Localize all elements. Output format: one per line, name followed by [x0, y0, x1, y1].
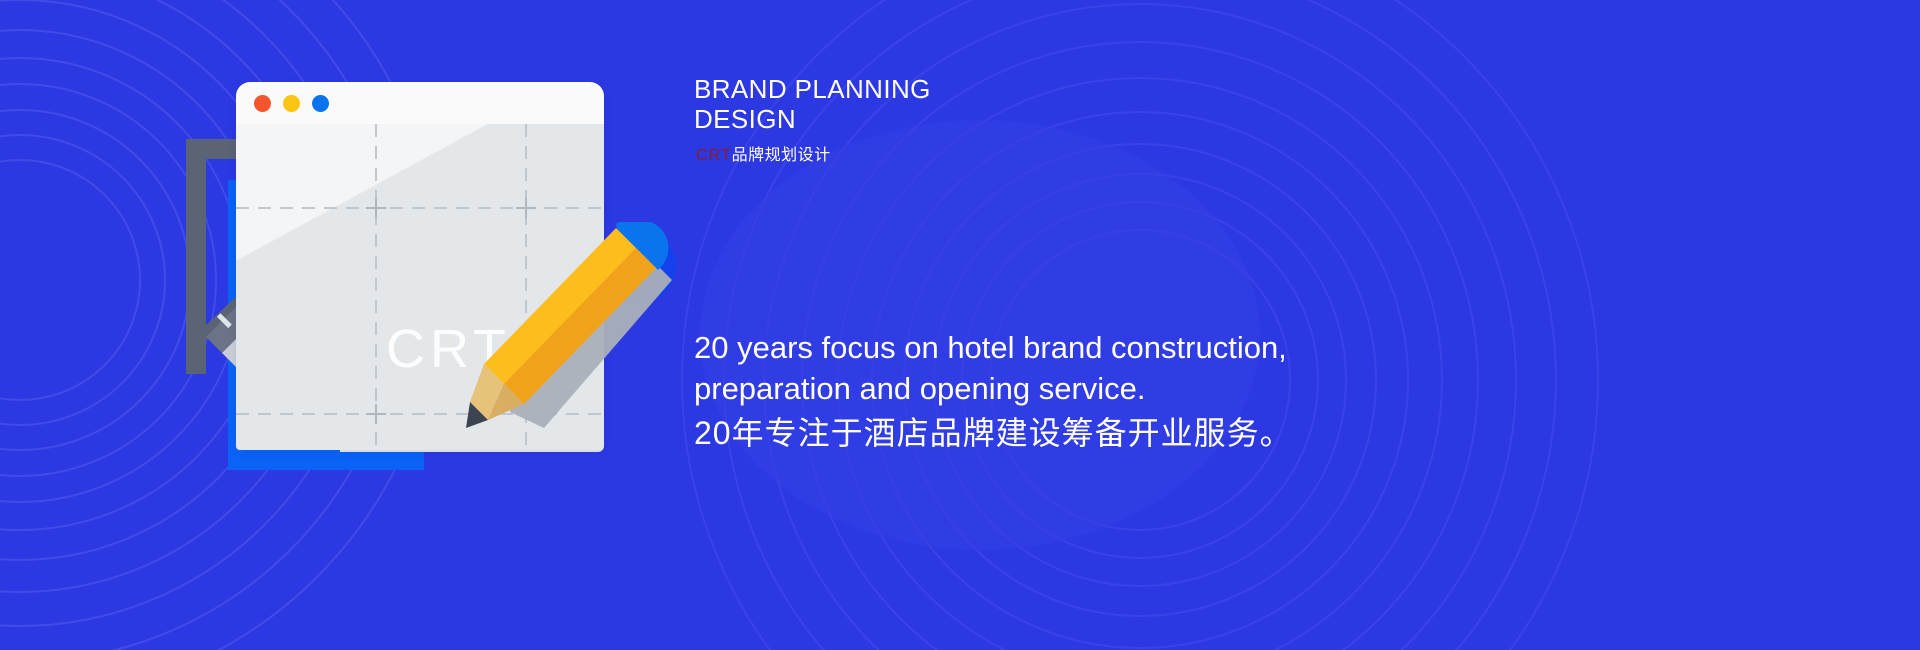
- banner-content: BRAND PLANNING DESIGN CRT品牌规划设计 20 years…: [694, 0, 1794, 650]
- headline-title: BRAND PLANNING DESIGN: [694, 74, 931, 134]
- tagline-english: 20 years focus on hotel brand constructi…: [694, 328, 1374, 410]
- brand-illustration: CRT: [0, 0, 760, 650]
- minimize-dot-icon[interactable]: [283, 95, 300, 112]
- close-dot-icon[interactable]: [254, 95, 271, 112]
- subheading: CRT品牌规划设计: [696, 141, 831, 165]
- brand-banner: CRT BRAND PLANNING DESIGN CRT品牌规划设计 20 y…: [0, 0, 1920, 650]
- maximize-dot-icon[interactable]: [312, 95, 329, 112]
- subheading-text: 品牌规划设计: [732, 147, 831, 164]
- subheading-brand: CRT: [696, 147, 732, 164]
- pencil-icon: [466, 222, 696, 452]
- tagline-chinese: 20年专注于酒店品牌建设筹备开业服务。: [694, 408, 1293, 454]
- window-title-bar: [236, 82, 604, 124]
